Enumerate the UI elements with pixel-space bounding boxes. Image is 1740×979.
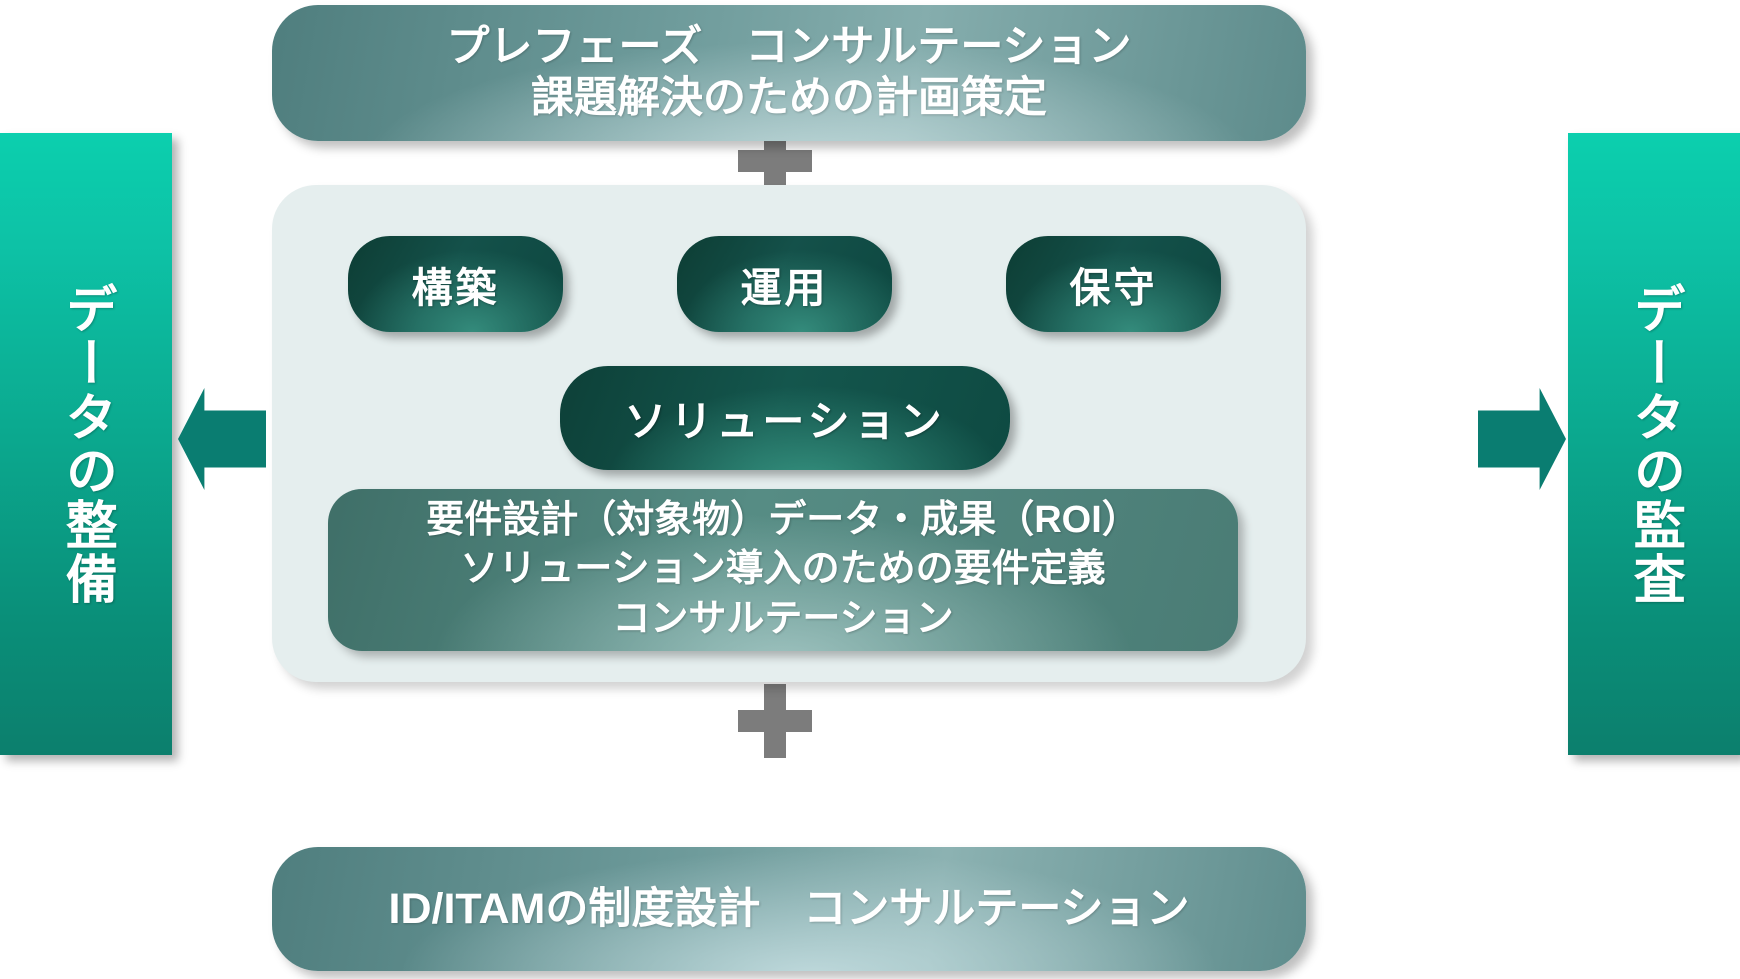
plus-icon-bottom [738, 684, 812, 758]
bottom-bar-id-itam-policy-design: ID/ITAMの制度設計 コンサルテーション [272, 847, 1306, 971]
left-panel-data-preparation: データの整備 [0, 133, 172, 755]
pill-build: 構築 [348, 236, 563, 332]
right-panel-label: データの監査 [1568, 133, 1740, 755]
detail-line-2: ソリューション導入のための要件定義 [460, 545, 1105, 594]
pill-solution-label: ソリューション [624, 388, 945, 449]
center-container: 構築 運用 保守 ソリューション 要件設計（対象物）データ・成果（ROI） ソリ… [272, 185, 1306, 682]
left-panel-label: データの整備 [0, 133, 172, 755]
pill-maintenance: 保守 [1006, 236, 1221, 332]
arrow-right-icon [1478, 388, 1566, 490]
arrow-left-icon [178, 388, 266, 490]
pill-operation: 運用 [677, 236, 892, 332]
detail-line-1: 要件設計（対象物）データ・成果（ROI） [426, 496, 1140, 545]
top-bar-line1: プレフェーズ コンサルテーション [447, 22, 1132, 73]
detail-block-requirements: 要件設計（対象物）データ・成果（ROI） ソリューション導入のための要件定義 コ… [328, 489, 1238, 651]
bottom-bar-line1: ID/ITAMの制度設計 コンサルテーション [389, 884, 1190, 935]
pill-maintenance-label: 保守 [1070, 254, 1158, 314]
pill-solution: ソリューション [560, 366, 1010, 470]
top-bar-line2: 課題解決のための計画策定 [531, 73, 1047, 124]
diagram-canvas: データの整備 データの監査 プレフェーズ コンサルテーション 課題解決のための計… [0, 0, 1740, 979]
pill-build-label: 構築 [412, 254, 500, 314]
detail-line-3: コンサルテーション [612, 595, 953, 644]
pill-operation-label: 運用 [741, 254, 829, 314]
top-bar-pre-phase-consultation: プレフェーズ コンサルテーション 課題解決のための計画策定 [272, 5, 1306, 141]
right-panel-data-audit: データの監査 [1568, 133, 1740, 755]
